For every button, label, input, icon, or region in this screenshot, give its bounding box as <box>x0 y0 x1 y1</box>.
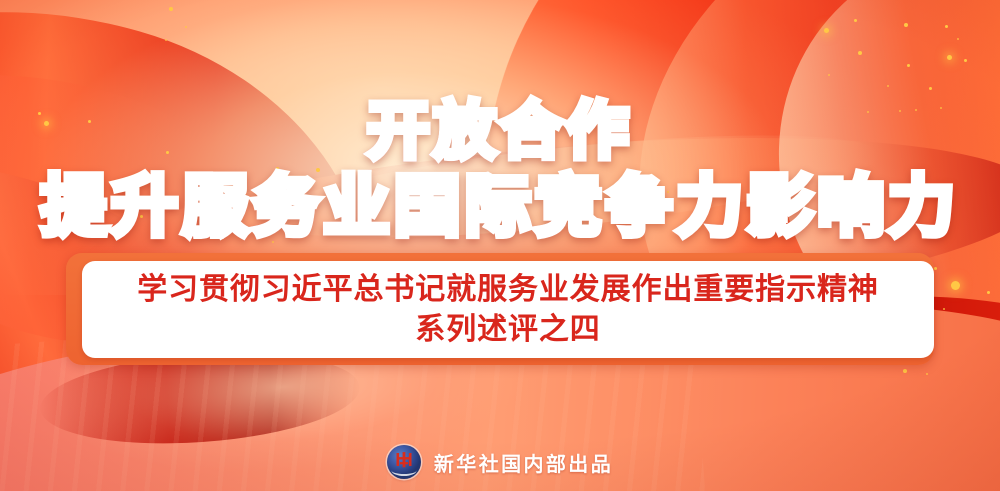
sparkle-17 <box>904 23 908 27</box>
sparkle-18 <box>945 25 948 28</box>
sparkle-35 <box>903 369 907 373</box>
sparkle-31 <box>951 281 960 290</box>
sparkle-22 <box>907 64 910 67</box>
sparkle-24 <box>828 74 830 76</box>
sparkle-20 <box>947 55 952 60</box>
subtitle-line-1: 学习贯彻习近平总书记就服务业发展作出重要指示精神 <box>137 270 879 310</box>
sparkle-19 <box>957 38 959 40</box>
sparkle-25 <box>887 85 889 87</box>
sparkle-16 <box>854 19 857 22</box>
sparkle-0 <box>169 7 173 11</box>
sparkle-34 <box>943 308 945 310</box>
sparkle-26 <box>929 87 932 90</box>
sparkle-15 <box>824 28 829 33</box>
sparkle-2 <box>165 39 167 41</box>
headline-line-1: 开放合作 <box>0 98 1000 164</box>
sparkle-33 <box>987 291 990 294</box>
sparkle-23 <box>858 51 862 55</box>
headline-line-2: 提升服务业国际竞争力影响力 <box>0 172 1000 242</box>
ribbon-top-left <box>0 0 426 491</box>
vignette-overlay <box>0 0 1000 491</box>
ribbon-top-right <box>379 0 1000 491</box>
subtitle-line-2: 系列述评之四 <box>415 310 600 350</box>
sparkle-21 <box>964 59 967 62</box>
subtitle-plate: 学习贯彻习近平总书记就服务业发展作出重要指示精神 系列述评之四 <box>82 261 934 358</box>
sparkle-1 <box>185 26 187 28</box>
footer-credit-text: 新华社国内部出品 <box>434 448 613 477</box>
footer-credit: 新华社国内部出品 <box>0 441 1000 483</box>
poster-canvas: 开放合作 提升服务业国际竞争力影响力 学习贯彻习近平总书记就服务业发展作出重要指… <box>0 0 1000 491</box>
logo-arc-icon <box>391 465 416 476</box>
sparkle-36 <box>926 373 928 375</box>
xinhua-news-agency-logo-icon <box>387 445 421 479</box>
